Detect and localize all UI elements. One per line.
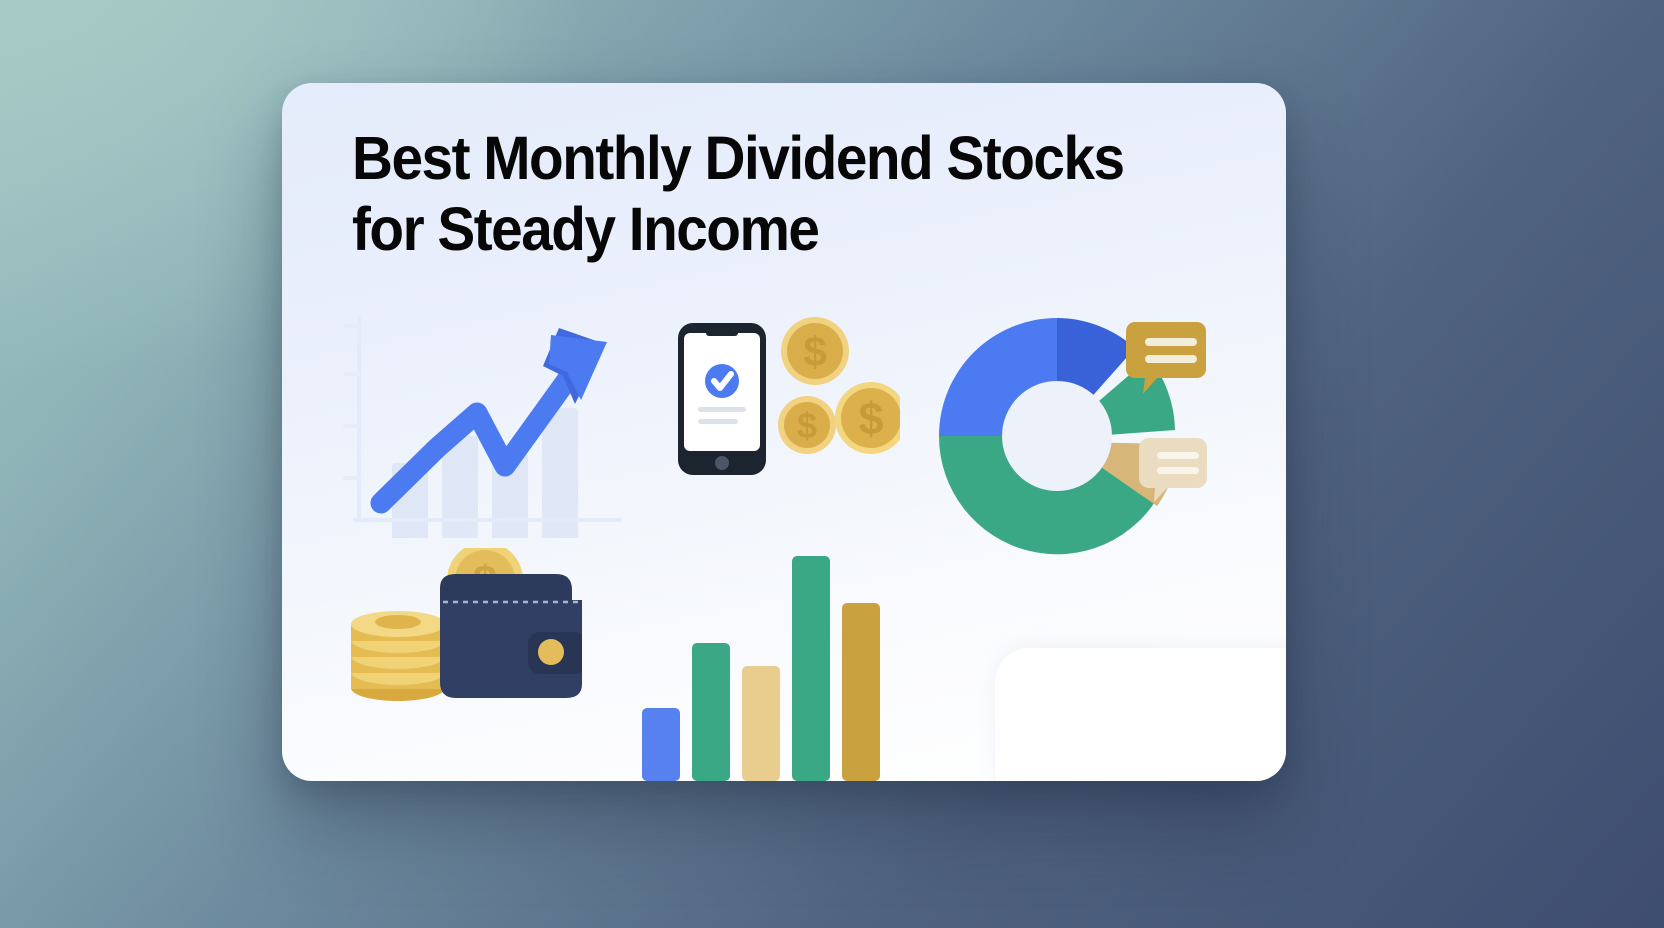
content-card: Best Monthly Dividend Stocks for Steady … bbox=[282, 83, 1286, 781]
coin-left: $ bbox=[778, 396, 836, 454]
bar-group bbox=[642, 556, 880, 781]
bar-2 bbox=[692, 643, 730, 781]
wallet-with-coins: $ bbox=[342, 548, 582, 708]
wallet-body bbox=[440, 574, 582, 698]
blank-white-panel bbox=[995, 648, 1286, 781]
bar-3 bbox=[742, 666, 780, 781]
bar-1 bbox=[642, 708, 680, 781]
phone-home-button bbox=[715, 456, 729, 470]
svg-text:$: $ bbox=[858, 393, 883, 444]
bar-5 bbox=[842, 603, 880, 781]
svg-text:$: $ bbox=[797, 405, 817, 446]
coin-top: $ bbox=[781, 317, 849, 385]
bar-4 bbox=[792, 556, 830, 781]
check-circle-icon bbox=[705, 364, 739, 398]
page-title: Best Monthly Dividend Stocks for Steady … bbox=[352, 123, 1161, 266]
donut-hole bbox=[1002, 381, 1112, 491]
phone-notch bbox=[706, 330, 738, 336]
gold-coin-group: $ $ $ bbox=[778, 317, 900, 454]
svg-text:$: $ bbox=[803, 328, 826, 375]
axis-ticks bbox=[345, 326, 359, 478]
wallet-clasp-button bbox=[538, 639, 564, 665]
coin-stack bbox=[351, 611, 445, 701]
coin-right: $ bbox=[835, 382, 900, 454]
growth-arrow-chart bbox=[337, 308, 627, 538]
screenshot-stage: Best Monthly Dividend Stocks for Steady … bbox=[0, 0, 1664, 928]
dividend-bar-chart bbox=[642, 503, 882, 781]
allocation-donut-chart bbox=[927, 298, 1207, 573]
